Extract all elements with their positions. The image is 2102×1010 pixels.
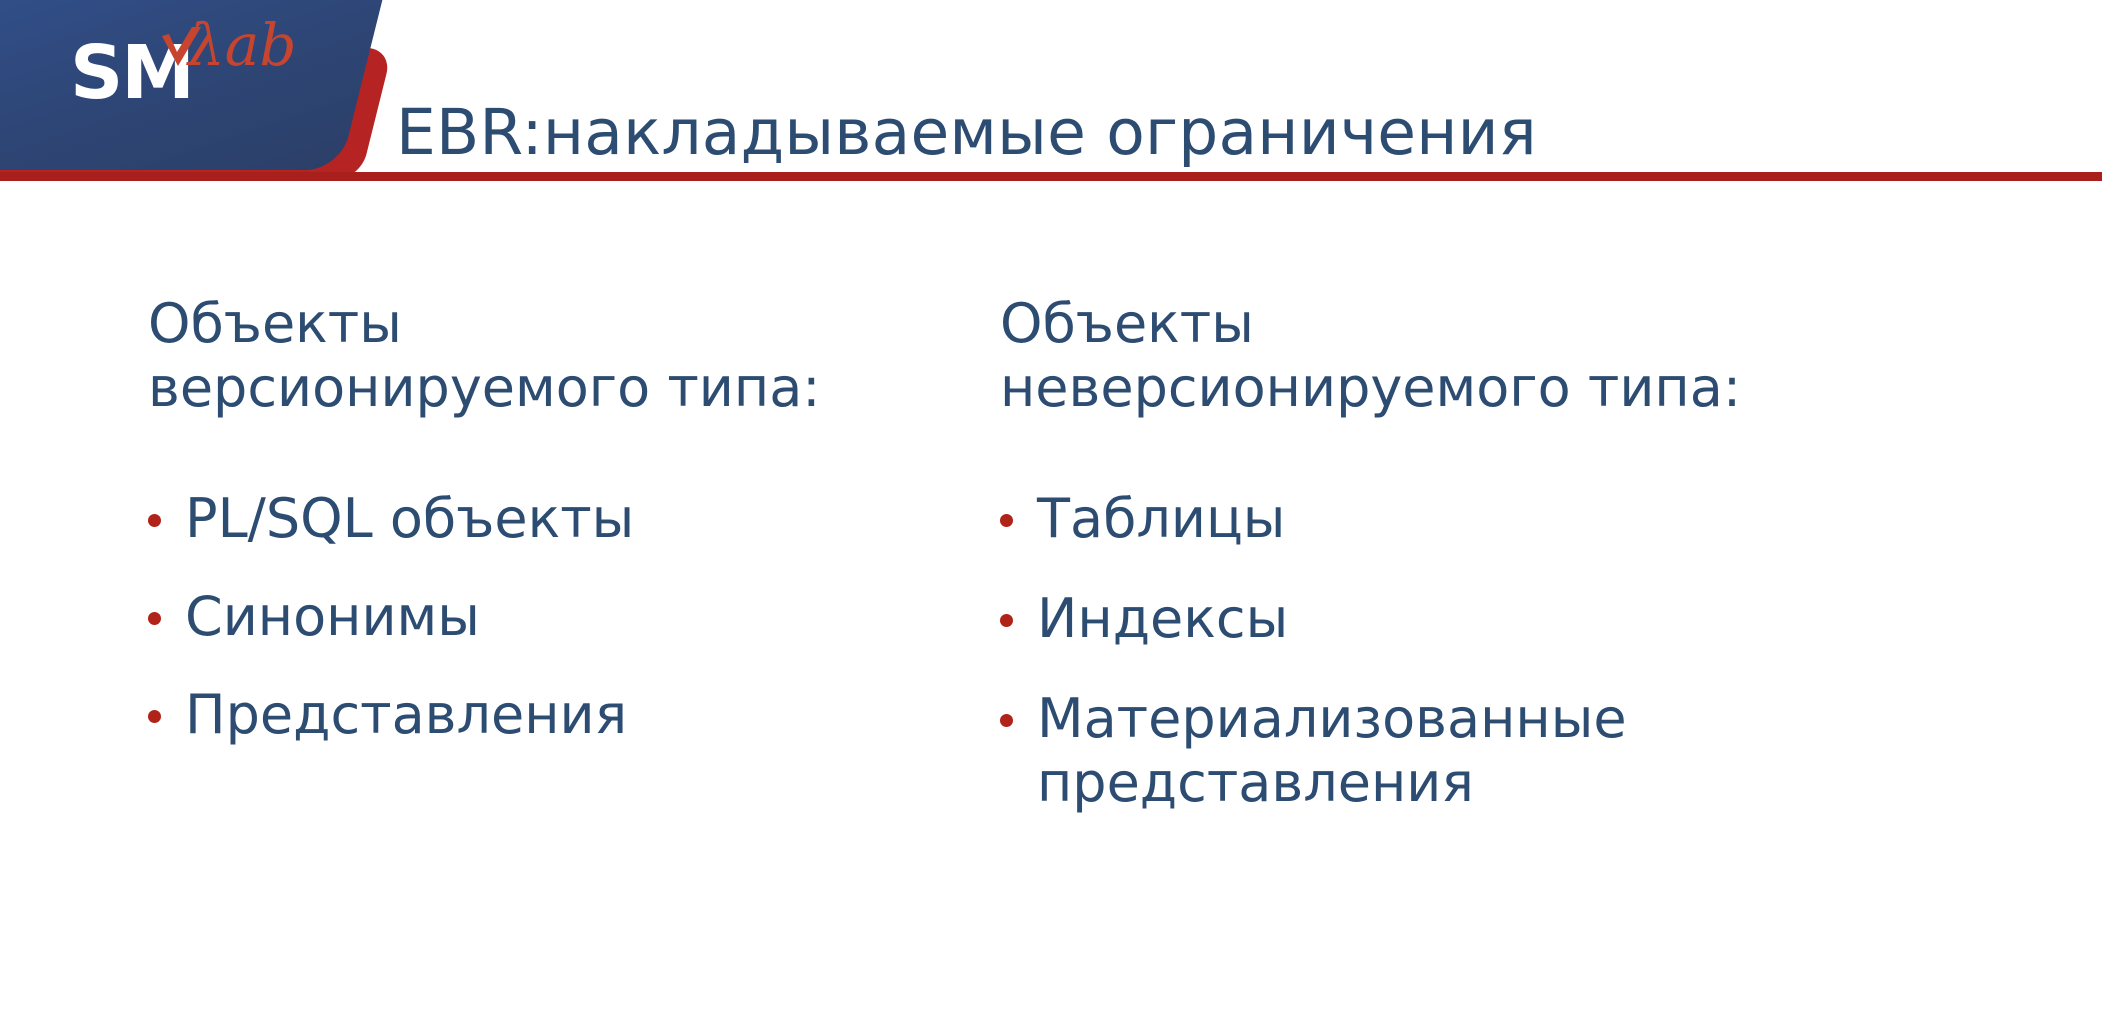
list-item: Материализованные представления <box>1000 687 2042 814</box>
bullet-dot-icon <box>1000 514 1013 527</box>
header-divider-rule <box>0 172 2102 181</box>
company-logo[interactable]: SM λab <box>70 14 310 134</box>
list-item-label: Синонимы <box>185 585 840 649</box>
list-item-label: Материализованные представления <box>1037 687 2042 814</box>
bullet-dot-icon <box>148 612 161 625</box>
page-title: EBR:накладываемые ограничения <box>396 98 2056 167</box>
list-item: PL/SQL объекты <box>148 487 840 551</box>
column-non-versioned-objects: Объекты неверсионируемого типа: Таблицы … <box>960 196 2102 850</box>
bullet-dot-icon <box>1000 614 1013 627</box>
list-item: Таблицы <box>1000 487 2042 551</box>
column-versioned-objects: Объекты версионируемого типа: PL/SQL объ… <box>0 196 960 747</box>
bullet-dot-icon <box>148 710 161 723</box>
bullet-list-non-versioned: Таблицы Индексы Материализованные предст… <box>1000 487 2042 814</box>
list-item-label: PL/SQL объекты <box>185 487 840 551</box>
list-item-label: Представления <box>185 683 840 747</box>
column-heading-versioned: Объекты версионируемого типа: <box>148 292 840 419</box>
column-heading-non-versioned: Объекты неверсионируемого типа: <box>1000 292 2042 419</box>
column-heading-non-versioned-line2: неверсионируемого типа: <box>1000 356 2042 420</box>
list-item: Представления <box>148 683 840 747</box>
slide-body: Объекты версионируемого типа: PL/SQL объ… <box>0 196 2102 1010</box>
list-item: Индексы <box>1000 587 2042 651</box>
slide: SM λab EBR:накладываемые ограничения Объ… <box>0 0 2102 1010</box>
column-heading-non-versioned-line1: Объекты <box>1000 292 2042 356</box>
list-item: Синонимы <box>148 585 840 649</box>
bullet-dot-icon <box>148 514 161 527</box>
column-heading-versioned-line2: версионируемого типа: <box>148 356 840 420</box>
list-item-label: Индексы <box>1037 587 2042 651</box>
logo-wordmark-text: λab <box>188 16 296 74</box>
column-heading-versioned-line1: Объекты <box>148 292 840 356</box>
list-item-label: Таблицы <box>1037 487 2042 551</box>
bullet-list-versioned: PL/SQL объекты Синонимы Представления <box>148 487 840 746</box>
bullet-dot-icon <box>1000 714 1013 727</box>
slide-header: SM λab EBR:накладываемые ограничения <box>0 0 2102 186</box>
